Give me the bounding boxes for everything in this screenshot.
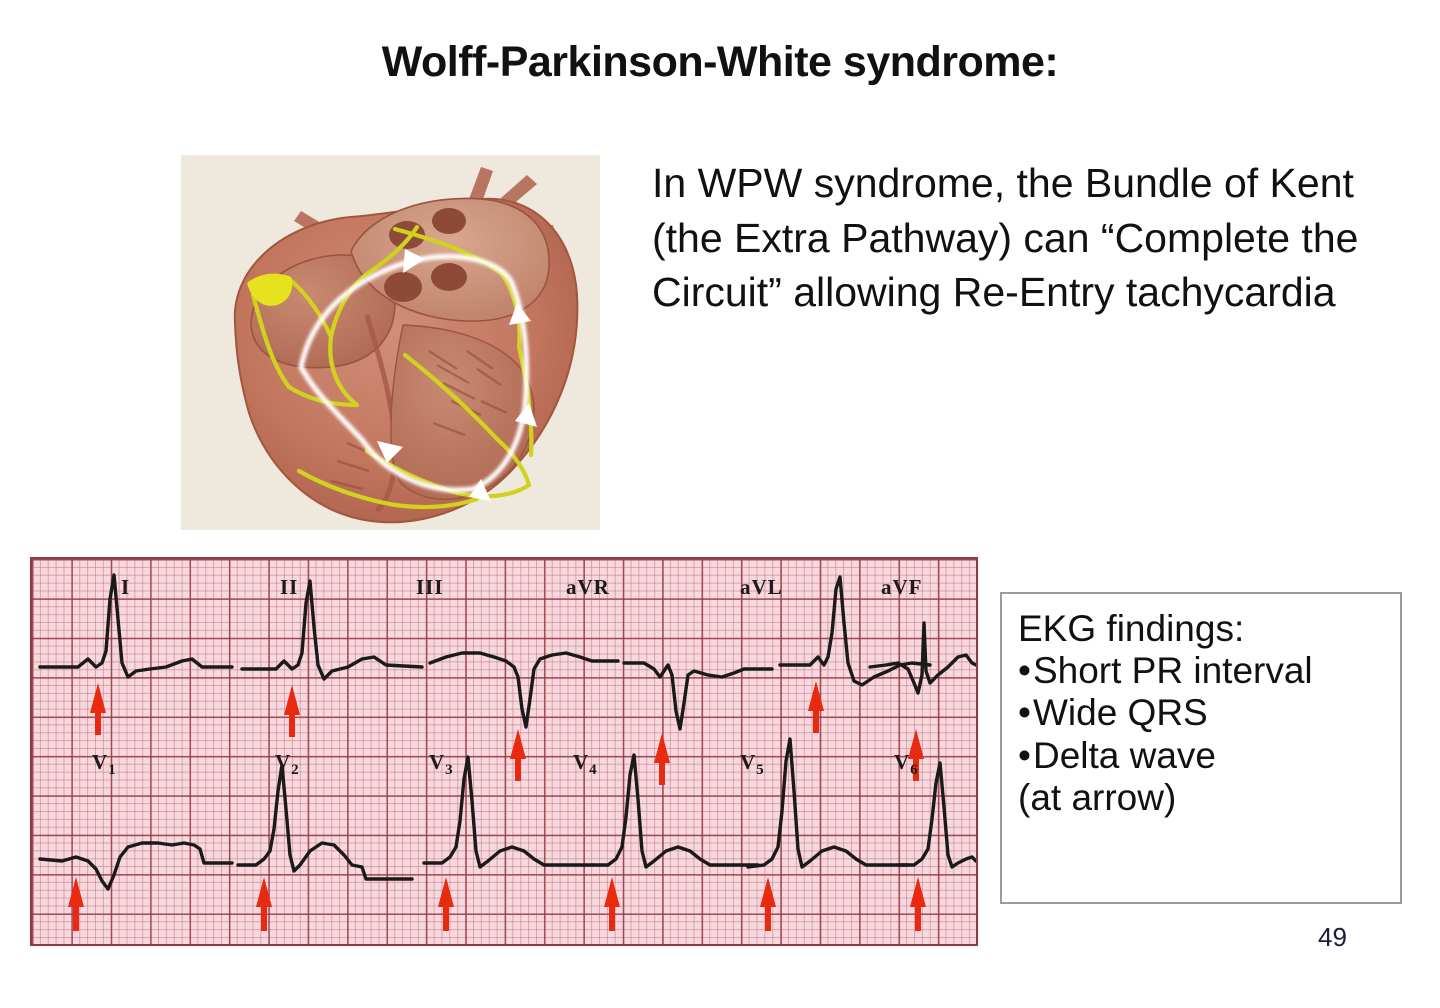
lead-label-aVL: aVL [740, 575, 783, 600]
trace-lead-V2 [238, 765, 412, 879]
finding-delta-wave: •Delta wave [1018, 735, 1386, 777]
page-number: 49 [1318, 922, 1347, 953]
bullet-icon: • [1018, 735, 1031, 776]
page-title: Wolff-Parkinson-White syndrome: [0, 38, 1440, 87]
lead-label-V4: V4 [573, 750, 597, 779]
delta-arrow-lead-V2 [256, 877, 272, 931]
lead-label-aVF: aVF [881, 575, 923, 600]
delta-arrow-lead-V4 [604, 877, 620, 931]
ekg-12-lead-strip: I II III aVR aVL aVF V1 V2 V3 V4 V5 V6 [30, 557, 978, 946]
trace-lead-II [242, 581, 422, 679]
finding-label: Wide QRS [1033, 692, 1208, 733]
finding-wide-qrs: •Wide QRS [1018, 692, 1386, 734]
ekg-findings-box: EKG findings: •Short PR interval •Wide Q… [1000, 592, 1402, 904]
bullet-icon: • [1018, 650, 1031, 691]
trace-lead-V5 [748, 739, 908, 867]
trace-lead-aVF [870, 623, 976, 693]
ekg-waveform-traces [32, 559, 976, 944]
lead-label-II: II [280, 575, 298, 600]
finding-label: Delta wave [1033, 735, 1216, 776]
delta-arrow-lead-V3 [438, 877, 454, 931]
delta-arrow-lead-aVR [654, 733, 670, 785]
delta-arrow-lead-I [90, 683, 106, 735]
lead-label-V3: V3 [429, 750, 453, 779]
trace-lead-aVR [624, 663, 772, 729]
lead-label-III: III [416, 575, 444, 600]
finding-arrow-note: (at arrow) [1018, 777, 1386, 819]
body-paragraph: In WPW syndrome, the Bundle of Kent (the… [652, 156, 1382, 320]
trace-lead-I [40, 575, 232, 677]
lead-label-aVR: aVR [566, 575, 610, 600]
delta-arrow-lead-II [284, 685, 300, 737]
delta-arrow-lead-V1 [68, 877, 84, 931]
findings-title: EKG findings: [1018, 608, 1386, 650]
delta-arrow-lead-III [510, 729, 526, 781]
trace-lead-III [430, 653, 618, 727]
bullet-icon: • [1018, 692, 1031, 733]
finding-short-pr: •Short PR interval [1018, 650, 1386, 692]
delta-arrow-lead-aVL [808, 681, 824, 733]
delta-arrow-lead-V6 [910, 877, 926, 931]
finding-label: Short PR interval [1033, 650, 1313, 691]
heart-conduction-diagram [181, 155, 600, 530]
lead-label-V5: V5 [740, 750, 764, 779]
trace-lead-V4 [592, 755, 758, 867]
delta-wave-arrows [68, 681, 926, 931]
lead-label-V1: V1 [92, 750, 116, 779]
delta-arrow-lead-V5 [760, 877, 776, 931]
lead-label-I: I [121, 575, 130, 600]
trace-lead-V1 [40, 843, 232, 889]
lead-label-V2: V2 [275, 750, 299, 779]
lead-label-V6: V6 [894, 750, 918, 779]
